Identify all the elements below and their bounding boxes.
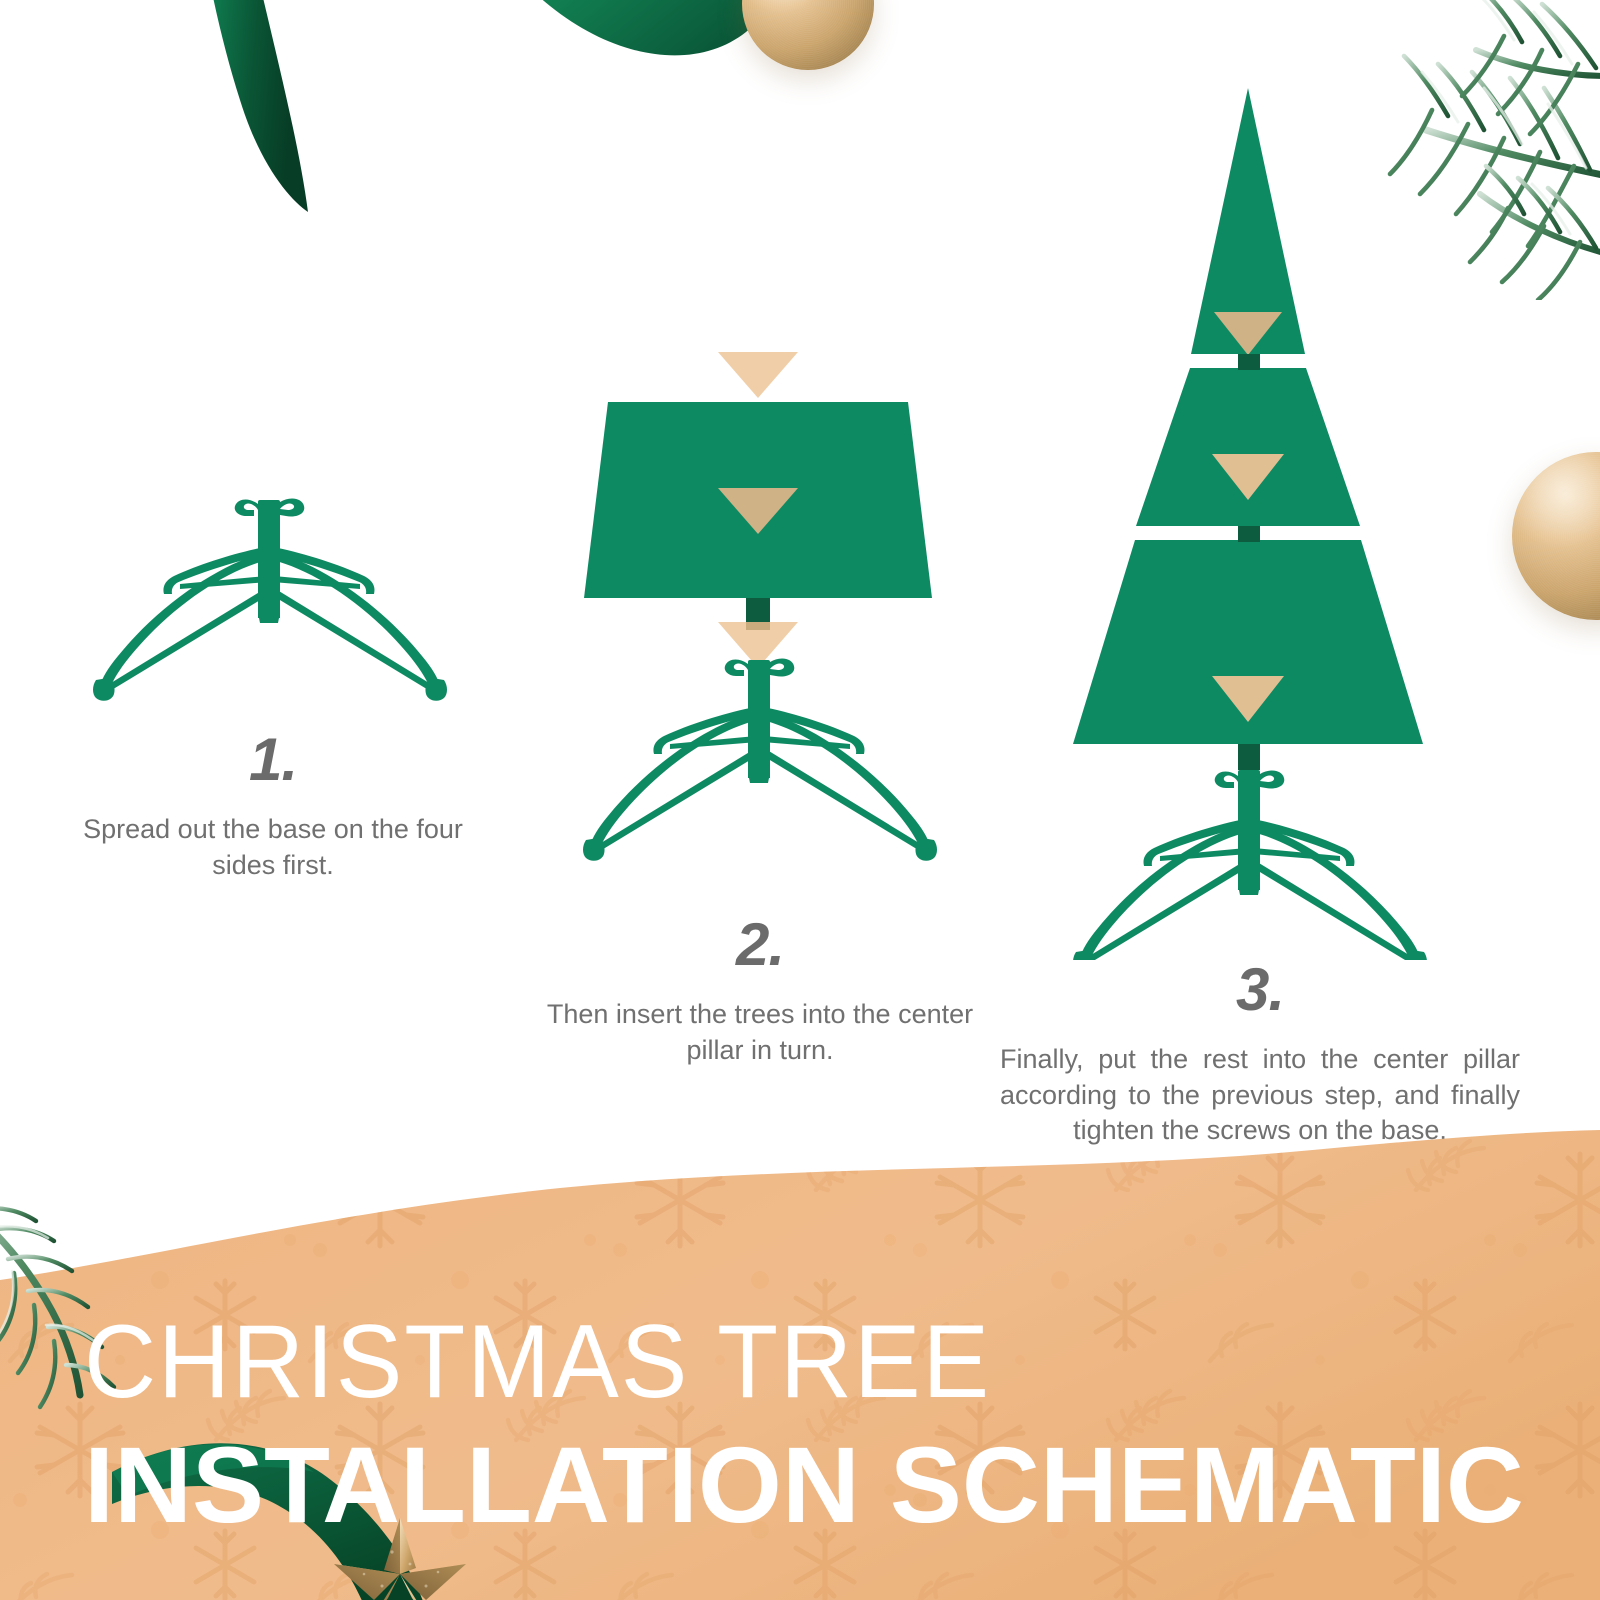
poster-canvas: 1. Spread out the base on the four sides… [0, 0, 1600, 1600]
title-line-1: CHRISTMAS TREE [84, 1310, 1472, 1414]
step-3-caption: 3. Finally, put the rest into the center… [1000, 960, 1520, 1149]
step-2-graphic [540, 340, 980, 880]
step-1-graphic [70, 480, 470, 710]
insert-arrow-above-icon [718, 352, 798, 398]
step-2-caption: 2. Then insert the trees into the center… [515, 915, 1005, 1068]
step-1-caption: 1. Spread out the base on the four sides… [48, 730, 498, 883]
step-2-number: 2. [515, 915, 1005, 975]
step-2-text: Then insert the trees into the center pi… [515, 997, 1005, 1068]
step-1-number: 1. [48, 730, 498, 790]
step-1-text: Spread out the base on the four sides fi… [48, 812, 498, 883]
poster-title-block: CHRISTMAS TREE INSTALLATION SCHEMATIC [84, 1310, 1530, 1542]
title-line-2: INSTALLATION SCHEMATIC [84, 1428, 1530, 1542]
step-3-graphic [1030, 80, 1470, 960]
tree-tier-middle [1136, 368, 1360, 526]
step-3-number: 3. [1000, 960, 1520, 1020]
